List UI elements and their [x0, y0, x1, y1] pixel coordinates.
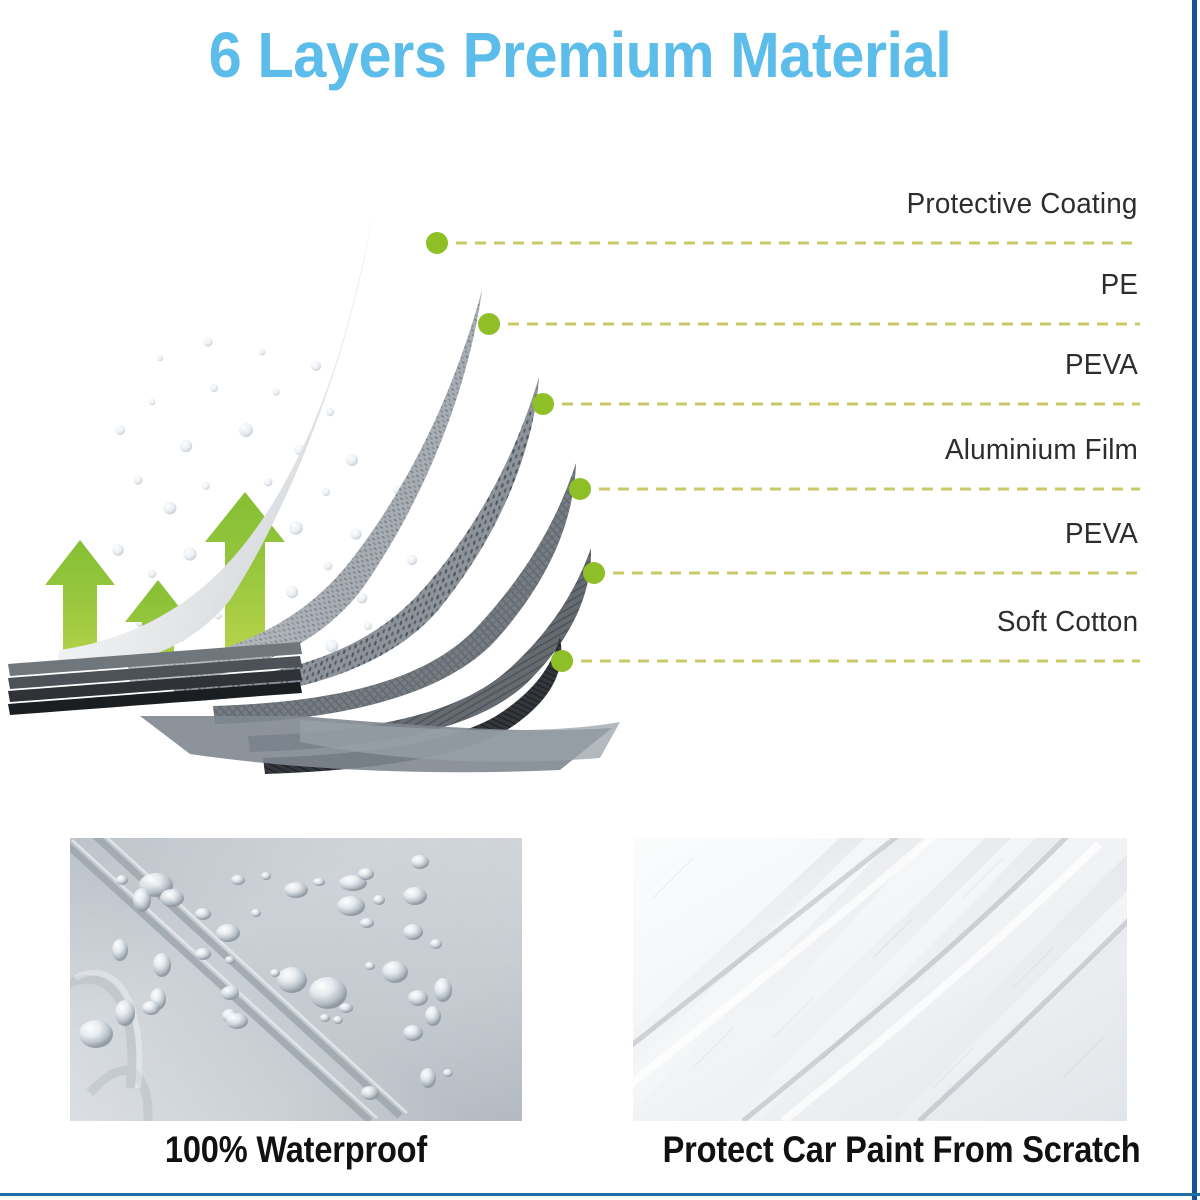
product-infographic-page: 6 Layers Premium Material — [0, 0, 1200, 1200]
layer-label-peva-lower: PEVA — [1065, 518, 1138, 551]
leader-dot-aluminium-film — [569, 478, 591, 500]
layer-label-pe: PE — [1100, 269, 1138, 302]
leader-dot-peva-upper — [532, 393, 554, 415]
feature-caption-waterproof: 100% Waterproof — [97, 1129, 495, 1171]
waterproof-fabric-photo — [70, 838, 522, 1121]
lower-fold-fin — [140, 716, 620, 772]
leader-dot-soft-cotton — [551, 650, 573, 672]
feature-caption-scratch-protection: Protect Car Paint From Scratch — [663, 1129, 1098, 1171]
leader-dot-pe — [478, 313, 500, 335]
leader-dot-protective-coating — [426, 232, 448, 254]
right-edge-rule — [1192, 0, 1197, 1200]
layer-diagram: Protective Coating PE PEVA Aluminium Fil… — [0, 130, 1160, 780]
page-title: 6 Layers Premium Material — [41, 18, 1120, 92]
bottom-edge-rule — [0, 1193, 1200, 1196]
feature-photo-row: 100% Waterproof — [0, 838, 1160, 1198]
leader-dot-peva-lower — [583, 562, 605, 584]
layer-label-peva-upper: PEVA — [1065, 349, 1138, 382]
layer-label-aluminium-film: Aluminium Film — [945, 434, 1138, 467]
soft-cotton-lining-photo — [633, 838, 1127, 1121]
layer-label-protective-coating: Protective Coating — [907, 188, 1138, 221]
feature-card-scratch-protection: Protect Car Paint From Scratch — [633, 838, 1127, 1171]
feature-card-waterproof: 100% Waterproof — [70, 838, 522, 1171]
layer-label-soft-cotton: Soft Cotton — [997, 606, 1138, 639]
